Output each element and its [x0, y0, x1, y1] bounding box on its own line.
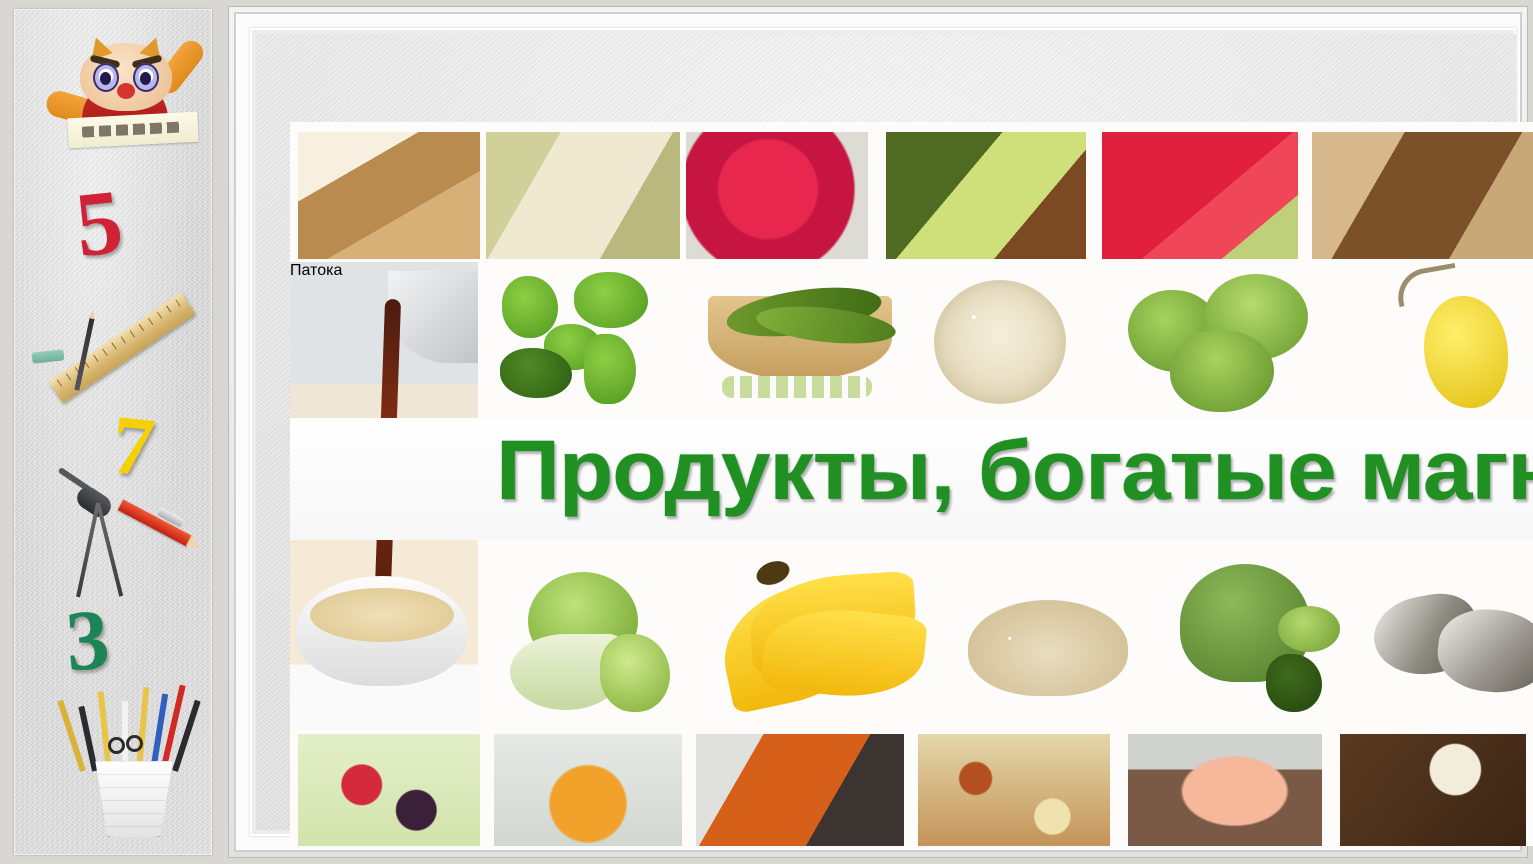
tile-broccoli: Брокколи [1170, 554, 1378, 730]
tile-leafy-greens: Зелень [496, 272, 676, 412]
sidebar-number-five: 5 [71, 175, 126, 271]
ruler-and-pencil-icon [24, 287, 212, 407]
pencil-white-1 [122, 701, 128, 771]
page-title: Продукты, богатые магнием [496, 428, 1533, 512]
scissors-handle-right [126, 735, 143, 752]
tile-citrus-basket: Цитрусовые [494, 734, 682, 846]
compass-leg-b [76, 503, 100, 598]
tile-pumpkin-seeds: Тыквенные семечки [696, 734, 904, 846]
decorative-sidebar: 5 7 3 [14, 9, 212, 855]
compass-leg-a [96, 503, 123, 597]
tile-cabbage: Капуста [504, 562, 684, 726]
ruler-icon [48, 292, 195, 403]
tile-rice-bowls: Рис [486, 132, 680, 259]
tile-salmon-steaks: Лосось [1128, 734, 1322, 846]
molasses-bowl [296, 576, 468, 686]
owl-eye-right [133, 63, 159, 92]
owl-mascot-icon [40, 31, 212, 149]
tile-raspberries: Малина [686, 132, 868, 259]
owl-eye-left [93, 63, 119, 92]
cup-body [90, 761, 178, 837]
eraser-icon [32, 349, 65, 363]
tile-walnuts: Грецкие орехи [1312, 132, 1533, 259]
tile-sesame-seeds: Кунжут [926, 272, 1074, 412]
tile-legumes: Бобовые [918, 734, 1110, 846]
tile-quinoa-grains: Крупа [958, 572, 1138, 722]
tile-artichokes: Артишоки [1122, 268, 1322, 414]
pencil-yellow-2 [98, 691, 112, 771]
pencil-cup-icon [56, 699, 212, 849]
slide-root: 5 7 3 [0, 0, 1533, 864]
owl-paper [67, 112, 198, 149]
tile-watermelon: Арбуз [1102, 132, 1298, 259]
tile-oysters: Устрицы [1374, 562, 1533, 730]
tile-okra-basket: Бамия [698, 272, 898, 412]
picture-frame-outer: Гречка Рис Малина Авокадо Арбуз [228, 6, 1528, 858]
owl-beak [117, 83, 135, 99]
picture-frame-band: Гречка Рис Малина Авокадо Арбуз [234, 12, 1522, 852]
tile-mixed-berries: Ягоды [298, 734, 480, 846]
compass-and-pencil-icon [40, 467, 212, 599]
picture-frame-mat: Гречка Рис Малина Авокадо Арбуз [256, 34, 1516, 830]
tile-avocado: Авокадо [886, 132, 1086, 259]
tile-bananas: Бананы [704, 552, 934, 728]
pencil-yellow-3 [136, 687, 149, 771]
owl-head [80, 43, 172, 111]
scissors-handle-left [108, 737, 125, 754]
tile-yellow-squash: Груша [1380, 262, 1533, 414]
tile-buckwheat-bowl: Гречка [298, 132, 480, 259]
picture-frame-inner: Гречка Рис Малина Авокадо Арбуз [250, 28, 1516, 836]
sidebar-number-three: 3 [63, 596, 112, 685]
molasses-jug [388, 271, 478, 363]
magnesium-foods-poster: Гречка Рис Малина Авокадо Арбуз [290, 122, 1533, 846]
tile-ginger-spices: Имбирь и специи [1340, 734, 1526, 846]
